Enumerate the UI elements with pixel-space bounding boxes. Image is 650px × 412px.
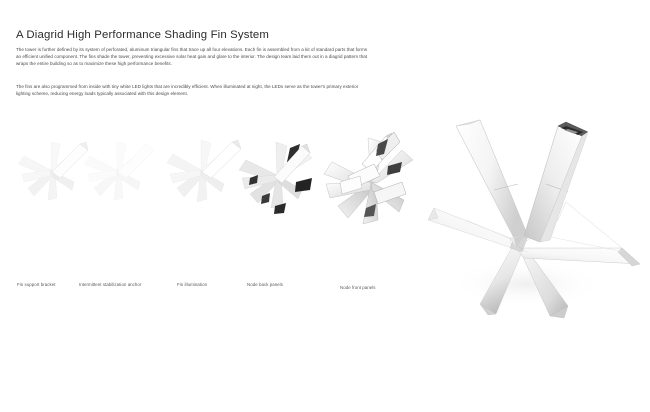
caption-fin-illumination: Fin illumination [177, 282, 207, 288]
page-title: A Diagrid High Performance Shading Fin S… [16, 29, 269, 41]
caption-node-back-panels: Node back panels [247, 282, 283, 288]
caption-fin-support-bracket: Fin support bracket [17, 282, 56, 288]
diagram-intermittent-stabilization-anchor [74, 120, 160, 220]
node-back-panels-illustration [230, 120, 325, 225]
diagram-node-back-panels [230, 120, 325, 225]
intermittent-stabilization-anchor-illustration [74, 120, 160, 220]
caption-node-front-panels: Node front panels [340, 285, 376, 291]
body-paragraph-1: The tower is further defined by its syst… [16, 46, 368, 68]
hero-render-diagrid-fin-node [418, 108, 650, 340]
diagram-node-front-panels [318, 120, 426, 232]
diagram-strip: Fin support bracket Intermittent stabili… [0, 120, 430, 295]
node-front-panels-illustration [318, 120, 426, 232]
diagrid-fin-node-assembly-illustration [418, 108, 650, 340]
document-page: A Diagrid High Performance Shading Fin S… [0, 0, 650, 412]
caption-intermittent-stabilization-anchor: Intermittent stabilization anchor [79, 282, 141, 288]
body-paragraph-2: The fins are also programmed from inside… [16, 83, 368, 97]
